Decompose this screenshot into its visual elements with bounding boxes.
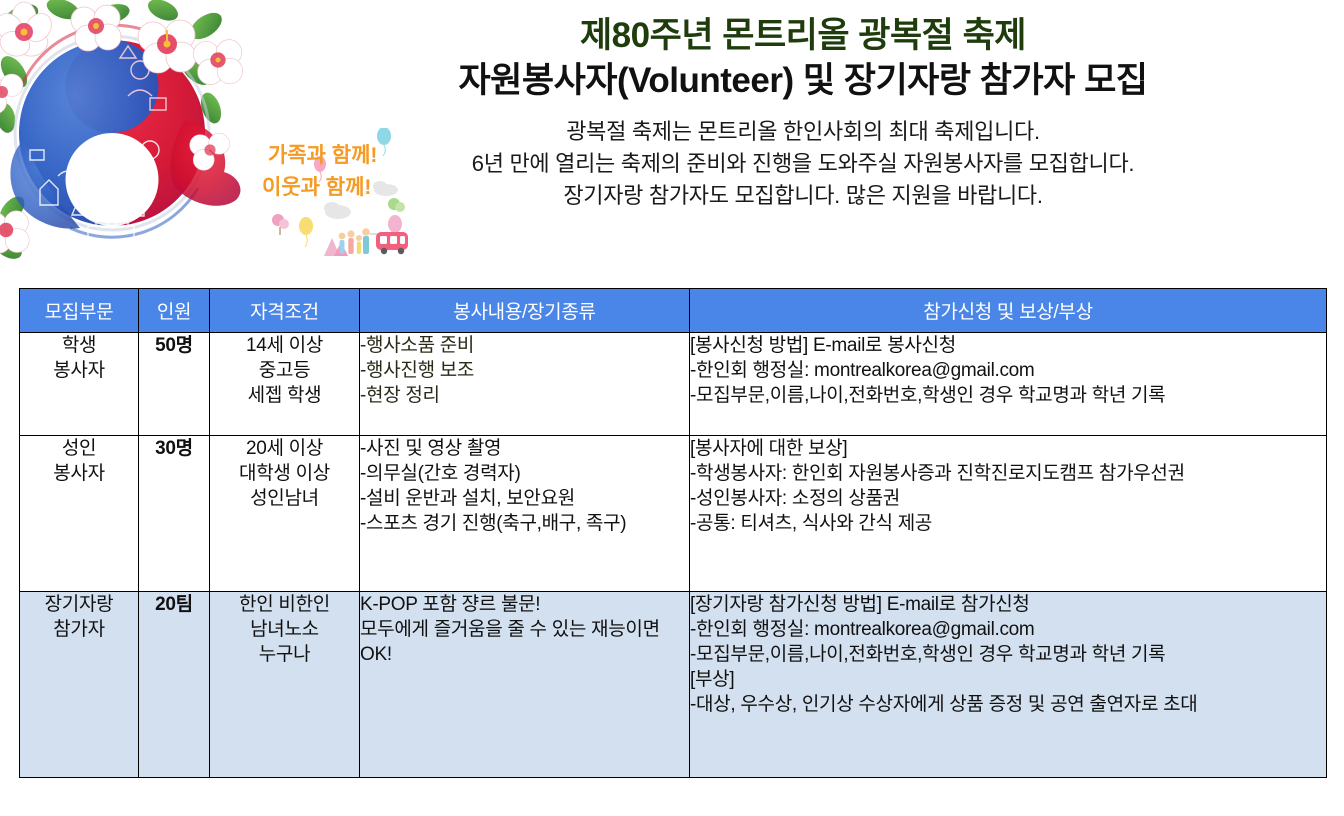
taegeuk-hibiscus-svg [0,0,262,265]
duty-line: -스포츠 경기 진행(축구,배구, 족구) [360,511,689,536]
duty-line: -행사소품 준비 [360,333,689,358]
table-row: 장기자랑 참가자 20팀 한인 비한인 남녀노소 누구나 K-POP 포함 쟝르… [20,592,1327,778]
recruitment-table: 모집부문 인원 자격조건 봉사내용/장기종류 참가신청 및 보상/부상 학생 봉… [19,288,1327,778]
duty-line: 모두에게 즐거움을 줄 수 있는 재능이면 OK! [360,617,689,667]
cell-part: 성인 봉사자 [20,436,139,592]
subtitle-line-2: 6년 만에 열리는 축제의 준비와 진행을 도와주실 자원봉사자를 모집합니다. [262,148,1344,180]
cell-qualification: 한인 비한인 남녀노소 누구나 [210,592,360,778]
cell-apply: [봉사자에 대한 보상] -학생봉사자: 한인회 자원봉사증과 진학진로지도캠프… [690,436,1327,592]
apply-line: -대상, 우수상, 인기상 수상자에게 상품 증정 및 공연 출연자로 초대 [690,692,1326,717]
duty-line: -현장 정리 [360,383,689,408]
apply-line: -한인회 행정실: montrealkorea@gmail.com [690,617,1326,642]
recruitment-table-wrapper: 모집부문 인원 자격조건 봉사내용/장기종류 참가신청 및 보상/부상 학생 봉… [19,288,1326,778]
qualification-line: 14세 이상 [210,333,359,358]
table-row: 학생 봉사자 50명 14세 이상 중고등 세젭 학생 -행사소품 준비 -행사 [20,333,1327,436]
page-title-line-1: 제80주년 몬트리올 광복절 축제 [262,14,1344,58]
apply-line: [장기자랑 참가신청 방법] E-mail로 참가신청 [690,592,1326,617]
column-header-duties: 봉사내용/장기종류 [360,289,690,333]
cell-duties: -행사소품 준비 -행사진행 보조 -현장 정리 [360,333,690,436]
part-line: 봉사자 [20,358,138,383]
apply-line: -한인회 행정실: montrealkorea@gmail.com [690,358,1326,383]
column-header-count: 인원 [139,289,210,333]
subtitle-block: 광복절 축제는 몬트리올 한인사회의 최대 축제입니다. 6년 만에 열리는 축… [262,116,1344,212]
subtitle-line-1: 광복절 축제는 몬트리올 한인사회의 최대 축제입니다. [262,116,1344,148]
cell-apply: [장기자랑 참가신청 방법] E-mail로 참가신청 -한인회 행정실: mo… [690,592,1327,778]
duty-line: -의무실(간호 경력자) [360,461,689,486]
subtitle-line-3: 장기자랑 참가자도 모집합니다. 많은 지원을 바랍니다. [262,180,1344,212]
apply-line: [봉사자에 대한 보상] [690,436,1326,461]
column-header-apply: 참가신청 및 보상/부상 [690,289,1327,333]
table-row: 성인 봉사자 30명 20세 이상 대학생 이상 성인남녀 -사진 및 영상 촬… [20,436,1327,592]
qualification-line: 성인남녀 [210,486,359,511]
cell-duties: K-POP 포함 쟝르 불문! 모두에게 즐거움을 줄 수 있는 재능이면 OK… [360,592,690,778]
part-line: 참가자 [20,617,138,642]
qualification-line: 남녀노소 [210,617,359,642]
poster-header: 제80주년 몬트리올 광복절 축제 자원봉사자(Volunteer) 및 장기자… [262,14,1344,212]
cell-count: 50명 [139,333,210,436]
part-line: 성인 [20,436,138,461]
page-title-line-2: 자원봉사자(Volunteer) 및 장기자랑 참가자 모집 [262,58,1344,104]
cell-part: 장기자랑 참가자 [20,592,139,778]
duty-line: K-POP 포함 쟝르 불문! [360,592,689,617]
part-line: 학생 [20,333,138,358]
cell-part: 학생 봉사자 [20,333,139,436]
cell-count: 30명 [139,436,210,592]
apply-line: [봉사신청 방법] E-mail로 봉사신청 [690,333,1326,358]
cell-count: 20팀 [139,592,210,778]
bus-illustration [376,232,408,254]
korean-flag-watercolor-artwork [0,0,262,265]
duty-line: -설비 운반과 설치, 보안요원 [360,486,689,511]
duty-line: -사진 및 영상 촬영 [360,436,689,461]
qualification-line: 중고등 [210,358,359,383]
apply-line: [부상] [690,667,1326,692]
column-header-qualification: 자격조건 [210,289,360,333]
cell-qualification: 14세 이상 중고등 세젭 학생 [210,333,360,436]
table-header-row: 모집부문 인원 자격조건 봉사내용/장기종류 참가신청 및 보상/부상 [20,289,1327,333]
qualification-line: 대학생 이상 [210,461,359,486]
qualification-line: 세젭 학생 [210,383,359,408]
apply-line: -성인봉사자: 소정의 상품권 [690,486,1326,511]
column-header-part: 모집부문 [20,289,139,333]
cell-duties: -사진 및 영상 촬영 -의무실(간호 경력자) -설비 운반과 설치, 보안요… [360,436,690,592]
apply-line: -학생봉사자: 한인회 자원봉사증과 진학진로지도캠프 참가우선권 [690,461,1326,486]
apply-line: -공통: 티셔츠, 식사와 간식 제공 [690,511,1326,536]
cell-qualification: 20세 이상 대학생 이상 성인남녀 [210,436,360,592]
qualification-line: 한인 비한인 [210,592,359,617]
cell-apply: [봉사신청 방법] E-mail로 봉사신청 -한인회 행정실: montrea… [690,333,1327,436]
part-line: 봉사자 [20,461,138,486]
part-line: 장기자랑 [20,592,138,617]
qualification-line: 누구나 [210,642,359,667]
apply-line: -모집부문,이름,나이,전화번호,학생인 경우 학교명과 학년 기록 [690,383,1326,408]
qualification-line: 20세 이상 [210,436,359,461]
duty-line: -행사진행 보조 [360,358,689,383]
apply-line: -모집부문,이름,나이,전화번호,학생인 경우 학교명과 학년 기록 [690,642,1326,667]
